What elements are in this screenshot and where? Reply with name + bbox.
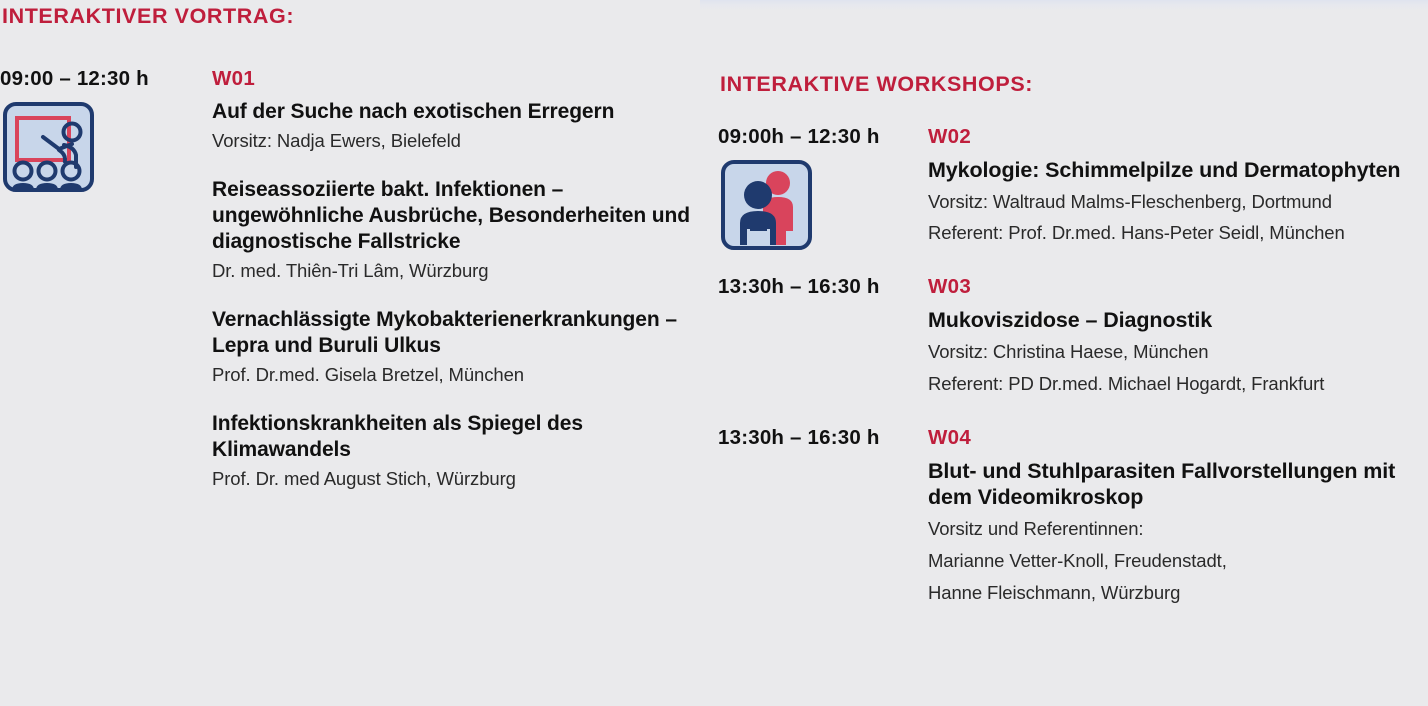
slot-header: 13:30h – 16:30 h W04 [718, 426, 1428, 450]
entry-person: Marianne Vetter-Knoll, Freudenstadt, [928, 548, 1428, 575]
entry-person: Vorsitz und Referentinnen: [928, 516, 1428, 543]
entry-person: Vorsitz: Nadja Ewers, Bielefeld [212, 128, 690, 155]
entry-person: Prof. Dr.med. Gisela Bretzel, München [212, 362, 690, 389]
lecture-entry: Vernachlässigte Mykobakterienerkrankunge… [212, 307, 690, 389]
workshop-entry-list: Mykologie: Schimmelpilze und Dermatophyt… [928, 149, 1428, 247]
workshop-entry: Blut- und Stuhlparasiten Fallvorstellung… [928, 458, 1428, 607]
entry-title: Infektionskrankheiten als Spiegel des Kl… [212, 411, 690, 463]
entry-title: Vernachlässigte Mykobakterienerkrankunge… [212, 307, 690, 359]
workshop-entry: Mukoviszidose – Diagnostik Vorsitz: Chri… [928, 307, 1428, 397]
slot-code: W04 [928, 426, 971, 450]
slot-time: 09:00h – 12:30 h [718, 125, 928, 149]
lecture-entry: Auf der Suche nach exotischen Erregern V… [212, 99, 690, 155]
slot-code: W02 [928, 125, 971, 149]
top-accent-band [700, 0, 1428, 11]
lecture-entry: Reiseassoziierte bakt. Infektionen – ung… [212, 177, 690, 285]
slot-header: 09:00 – 12:30 h W01 [0, 67, 690, 91]
entry-person: Dr. med. Thiên-Tri Lâm, Würzburg [212, 258, 690, 285]
entry-person: Referent: PD Dr.med. Michael Hogardt, Fr… [928, 371, 1428, 398]
workshop-entry-list: Mukoviszidose – Diagnostik Vorsitz: Chri… [928, 299, 1428, 397]
slot-header: 13:30h – 16:30 h W03 [718, 275, 1428, 299]
presentation-lecture-icon [2, 101, 95, 198]
entry-person: Vorsitz: Waltraud Malms-Fleschenberg, Do… [928, 189, 1428, 216]
entry-title: Mykologie: Schimmelpilze und Dermatophyt… [928, 157, 1428, 184]
workshop-entry: Mykologie: Schimmelpilze und Dermatophyt… [928, 157, 1428, 247]
slot-time: 13:30h – 16:30 h [718, 275, 928, 299]
entry-person: Prof. Dr. med August Stich, Würzburg [212, 466, 690, 493]
lecture-entry: Infektionskrankheiten als Spiegel des Kl… [212, 411, 690, 493]
section-heading-workshops: INTERAKTIVE WORKSHOPS: [720, 72, 1428, 97]
workshop-entry-list: Blut- und Stuhlparasiten Fallvorstellung… [928, 450, 1428, 607]
entry-title: Reiseassoziierte bakt. Infektionen – ung… [212, 177, 690, 255]
workshop-slot-w03: 13:30h – 16:30 h W03 Mukoviszidose – Dia… [718, 275, 1428, 397]
entry-person: Hanne Fleischmann, Würzburg [928, 580, 1428, 607]
two-people-icon [720, 159, 813, 256]
slot-code: W03 [928, 275, 971, 299]
slot-time: 13:30h – 16:30 h [718, 426, 928, 450]
workshop-slot-w04: 13:30h – 16:30 h W04 Blut- und Stuhlpara… [718, 426, 1428, 607]
lecture-slot-w01: 09:00 – 12:30 h W01 [0, 67, 690, 493]
entry-person: Vorsitz: Christina Haese, München [928, 339, 1428, 366]
workshop-slot-w02: 09:00h – 12:30 h W02 Mykol [718, 125, 1428, 247]
section-heading-lecture: INTERAKTIVER VORTRAG: [2, 4, 690, 29]
interactive-lecture-column: INTERAKTIVER VORTRAG: 09:00 – 12:30 h W0… [0, 0, 690, 493]
entry-title: Auf der Suche nach exotischen Erregern [212, 99, 690, 125]
lecture-entry-list: Auf der Suche nach exotischen Erregern V… [212, 91, 690, 493]
interactive-workshops-column: INTERAKTIVE WORKSHOPS: 09:00h – 12:30 h … [718, 72, 1428, 606]
slot-header: 09:00h – 12:30 h W02 [718, 125, 1428, 149]
entry-title: Blut- und Stuhlparasiten Fallvorstellung… [928, 458, 1428, 511]
program-page: INTERAKTIVER VORTRAG: 09:00 – 12:30 h W0… [0, 0, 1428, 706]
slot-time: 09:00 – 12:30 h [0, 67, 212, 91]
entry-person: Referent: Prof. Dr.med. Hans-Peter Seidl… [928, 220, 1428, 247]
entry-title: Mukoviszidose – Diagnostik [928, 307, 1428, 334]
slot-code: W01 [212, 67, 255, 91]
